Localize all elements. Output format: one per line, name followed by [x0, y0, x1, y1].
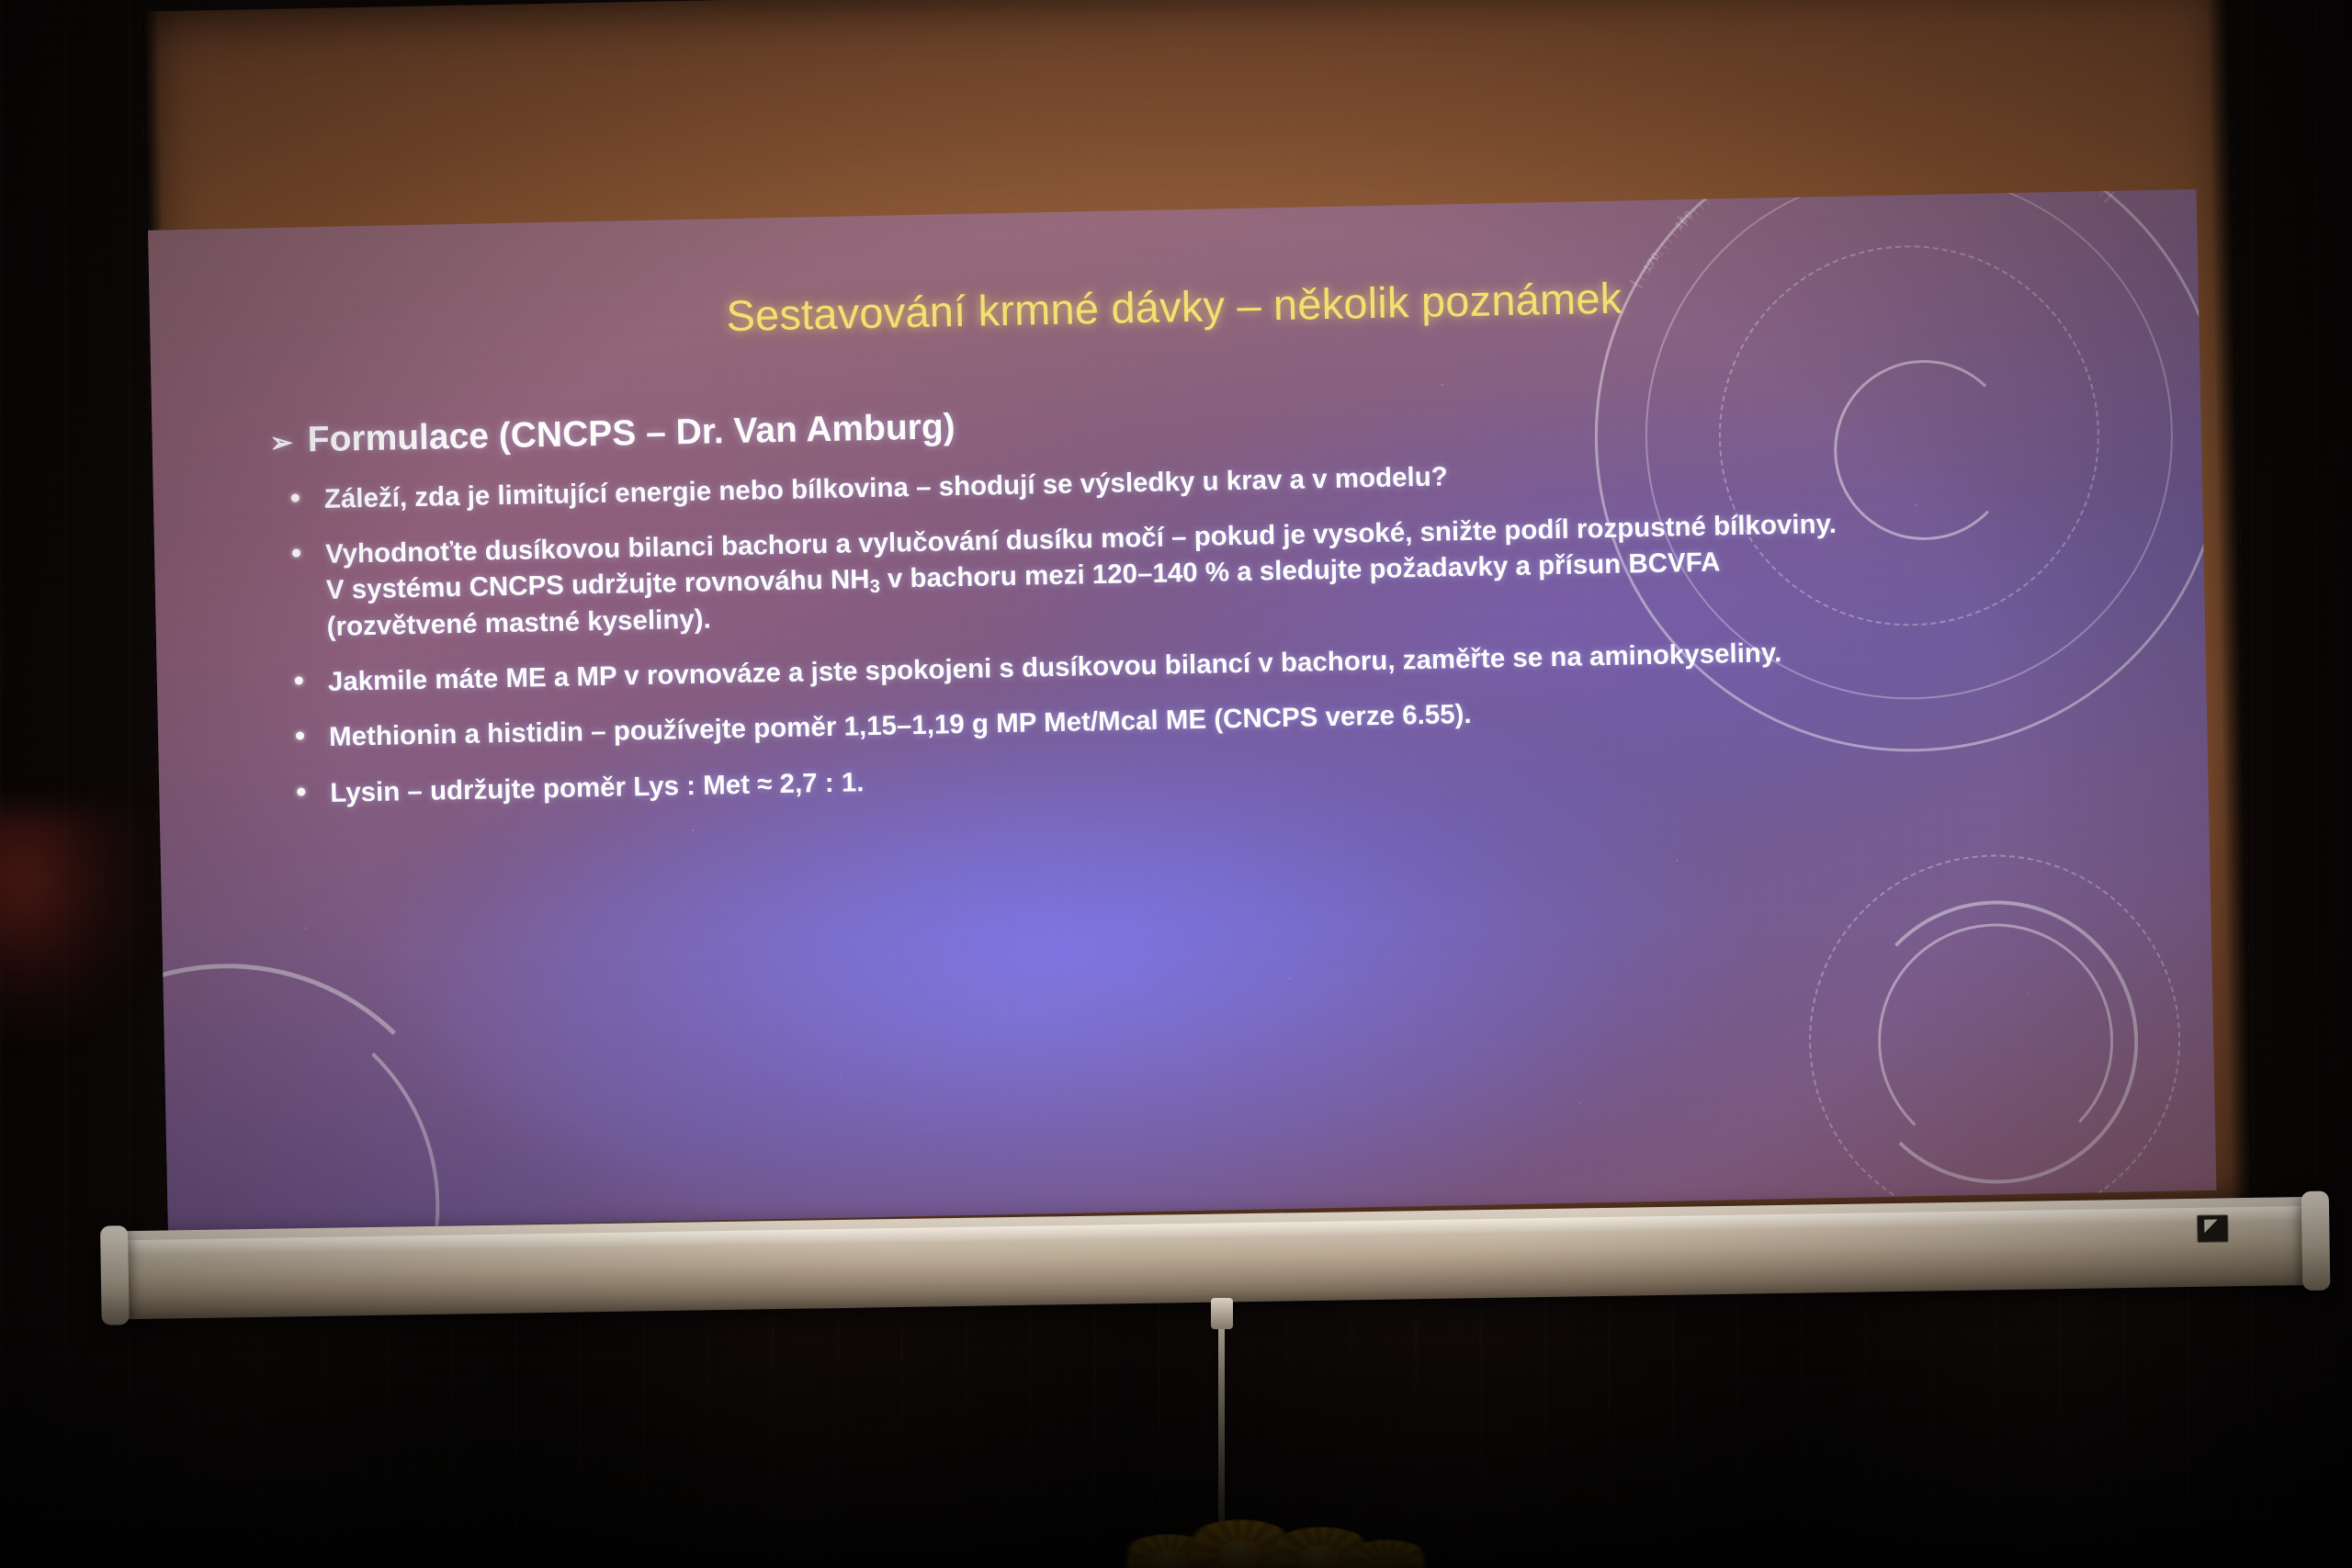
- projection-haze: [148, 189, 2216, 1232]
- projection-screen-assembly: 170160150140130120110100 Sestavování krm…: [129, 0, 2267, 1325]
- foreground-shadow: [0, 1292, 2352, 1568]
- end-cap-right: [2301, 1191, 2331, 1291]
- brand-label: [2197, 1214, 2228, 1243]
- photo-scene: 170160150140130120110100 Sestavování krm…: [0, 0, 2352, 1568]
- stage-side-light: [0, 808, 156, 1047]
- projected-slide: 170160150140130120110100 Sestavování krm…: [148, 189, 2216, 1232]
